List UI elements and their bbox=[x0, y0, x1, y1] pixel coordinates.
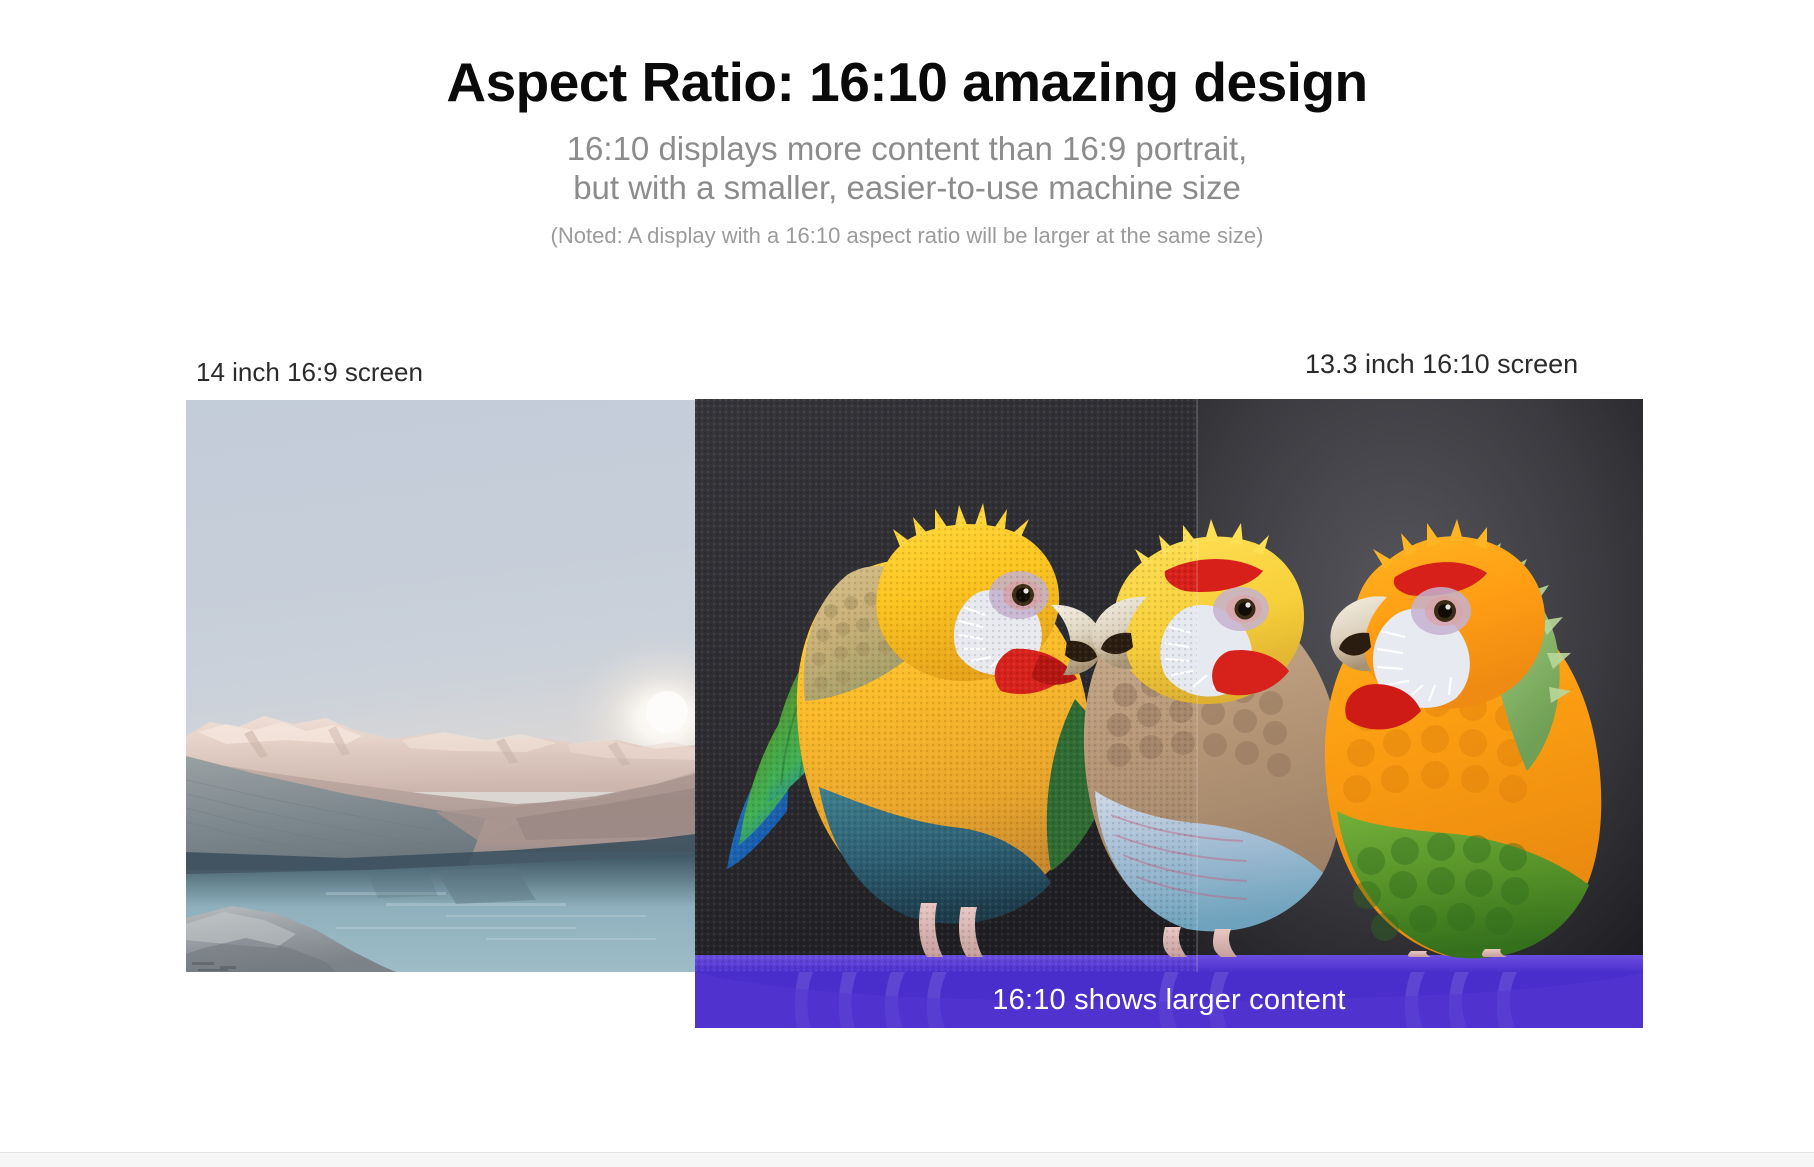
screen-comparison: 14 inch 16:9 screen 13.3 inch 16:10 scre… bbox=[0, 0, 1814, 1166]
bottom-strip bbox=[0, 1152, 1814, 1167]
caption-banner: 16:10 shows larger content bbox=[695, 972, 1643, 1028]
left-screen-label: 14 inch 16:9 screen bbox=[196, 357, 423, 388]
screen-16-9-panel bbox=[186, 400, 695, 972]
parrots-wallpaper-image bbox=[695, 399, 1643, 973]
landscape-wallpaper-image bbox=[186, 400, 695, 972]
banner-label: 16:10 shows larger content bbox=[695, 972, 1643, 1028]
screen-16-10-panel bbox=[695, 399, 1643, 973]
right-screen-label: 13.3 inch 16:10 screen bbox=[1305, 349, 1578, 380]
